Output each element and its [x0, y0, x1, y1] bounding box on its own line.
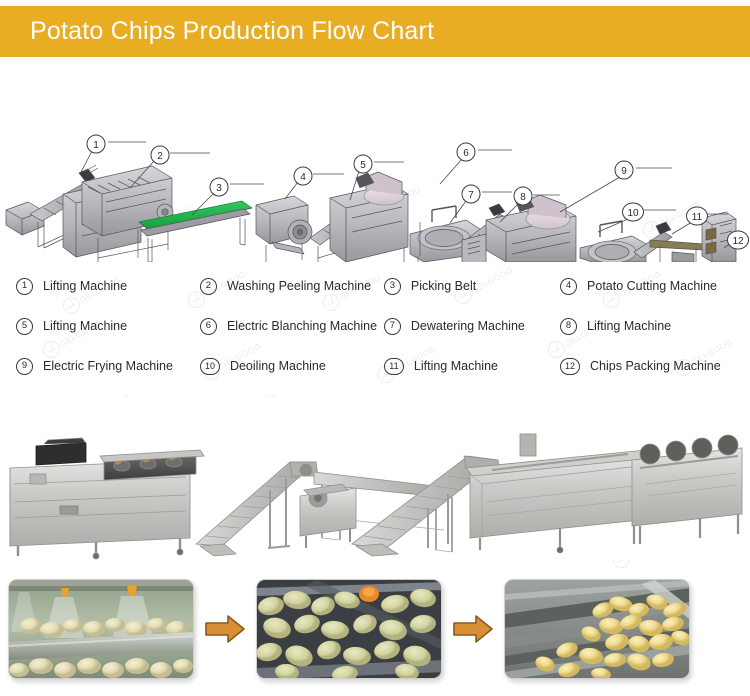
legend-number-badge: 10	[200, 358, 220, 375]
legend-item-7: 7 Dewatering Machine	[384, 318, 560, 335]
legend-number-badge: 5	[16, 318, 33, 335]
legend-row: 5 Lifting Machine 6 Electric Blanching M…	[8, 306, 742, 346]
right-arrow-icon	[452, 614, 494, 644]
legend-row: 1 Lifting Machine 2 Washing Peeling Mach…	[8, 266, 742, 306]
page-title: Potato Chips Production Flow Chart	[0, 17, 434, 46]
svg-text:4: 4	[300, 172, 306, 183]
process-arrow-1-wrap	[194, 614, 256, 644]
svg-text:8: 8	[520, 192, 526, 203]
production-line-diagram: 1 2 3 4 5 6 7 8 9 10 11	[0, 62, 750, 262]
svg-text:9: 9	[621, 166, 627, 177]
svg-text:10: 10	[627, 208, 639, 219]
washing-stage-photo	[8, 579, 194, 679]
legend-number-badge: 3	[384, 278, 401, 295]
legend-item-3: 3 Picking Belt	[384, 278, 560, 295]
legend-label: Deoiling Machine	[230, 359, 326, 373]
legend-label: Dewatering Machine	[411, 319, 525, 333]
legend-label: Picking Belt	[411, 279, 476, 293]
legend-number-badge: 1	[16, 278, 33, 295]
legend-item-1: 1 Lifting Machine	[8, 278, 200, 295]
legend-number-badge: 12	[560, 358, 580, 375]
legend-item-5: 5 Lifting Machine	[8, 318, 200, 335]
svg-text:1: 1	[93, 140, 99, 151]
legend-label: Chips Packing Machine	[590, 359, 721, 373]
legend-label: Electric Blanching Machine	[227, 319, 377, 333]
process-photo-strip	[0, 562, 750, 696]
svg-text:12: 12	[732, 236, 744, 247]
process-arrow-2-wrap	[442, 614, 504, 644]
right-arrow-icon	[204, 614, 246, 644]
legend-label: Potato Cutting Machine	[587, 279, 717, 293]
svg-text:11: 11	[692, 212, 703, 223]
legend-label: Electric Frying Machine	[43, 359, 173, 373]
legend-item-11: 11 Lifting Machine	[384, 358, 560, 375]
legend-label: Lifting Machine	[587, 319, 671, 333]
legend-item-8: 8 Lifting Machine	[560, 318, 742, 335]
svg-text:7: 7	[468, 190, 474, 201]
legend-item-4: 4 Potato Cutting Machine	[560, 278, 742, 295]
legend-item-12: 12 Chips Packing Machine	[560, 358, 742, 375]
svg-text:2: 2	[157, 151, 163, 162]
legend-row: 9 Electric Frying Machine 10 Deoiling Ma…	[8, 346, 742, 386]
frying-stage-photo	[504, 579, 690, 679]
legend-list: 1 Lifting Machine 2 Washing Peeling Mach…	[0, 262, 750, 397]
page-title-banner: Potato Chips Production Flow Chart	[0, 6, 750, 57]
legend-number-badge: 6	[200, 318, 217, 335]
legend-label: Washing Peeling Machine	[227, 279, 371, 293]
svg-text:6: 6	[463, 148, 469, 159]
legend-number-badge: 11	[384, 358, 404, 375]
legend-number-badge: 4	[560, 278, 577, 295]
svg-text:5: 5	[360, 160, 366, 171]
legend-number-badge: 8	[560, 318, 577, 335]
page-root: GELGOOG GELGOOG GELGOOG GELGOOG GELGOOG …	[0, 0, 750, 696]
legend-label: Lifting Machine	[414, 359, 498, 373]
production-line-photo	[0, 398, 750, 560]
legend-number-badge: 2	[200, 278, 217, 295]
legend-item-2: 2 Washing Peeling Machine	[200, 278, 384, 295]
legend-number-badge: 7	[384, 318, 401, 335]
legend-item-9: 9 Electric Frying Machine	[8, 358, 200, 375]
legend-label: Lifting Machine	[43, 279, 127, 293]
legend-item-10: 10 Deoiling Machine	[200, 358, 384, 375]
legend-item-6: 6 Electric Blanching Machine	[200, 318, 384, 335]
legend-number-badge: 9	[16, 358, 33, 375]
blanching-stage-photo	[256, 579, 442, 679]
legend-label: Lifting Machine	[43, 319, 127, 333]
svg-text:3: 3	[216, 183, 222, 194]
